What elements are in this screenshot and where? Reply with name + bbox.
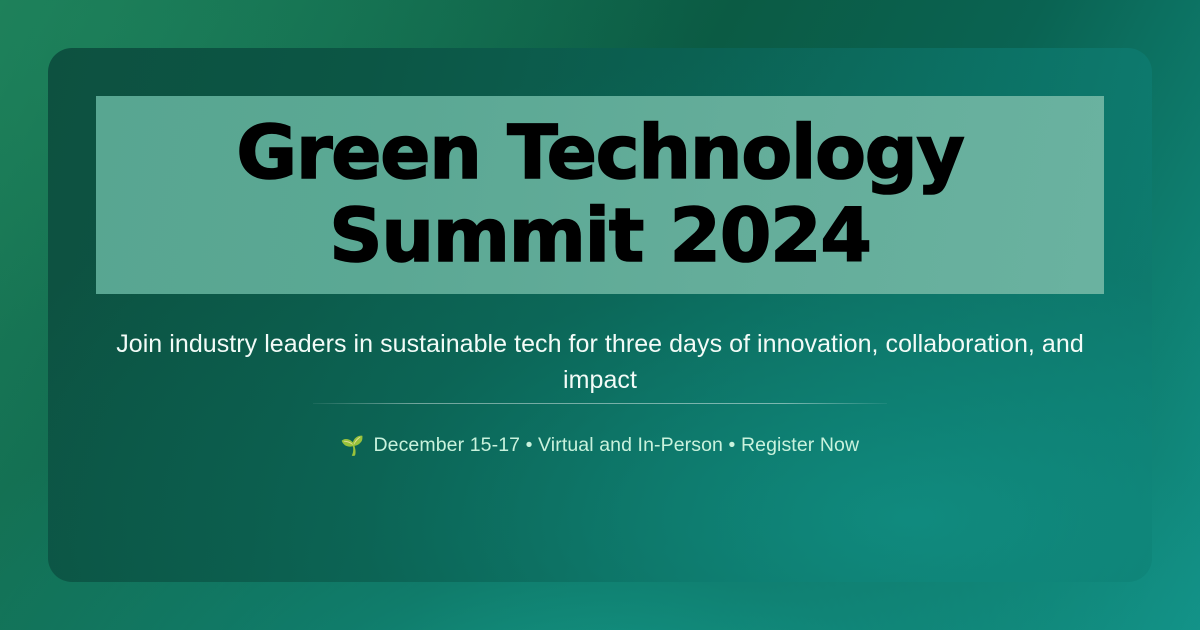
title-banner: Green TechnologySummit 2024 bbox=[96, 96, 1104, 294]
event-meta-text: December 15-17 • Virtual and In-Person •… bbox=[373, 434, 859, 457]
content-card: Green TechnologySummit 2024 Join industr… bbox=[48, 48, 1152, 582]
event-meta-row: 🌱 December 15-17 • Virtual and In-Person… bbox=[96, 434, 1104, 457]
section-divider bbox=[313, 403, 887, 404]
title-line-2: Summit 2024 bbox=[329, 193, 870, 279]
title-line-1: Green Technology bbox=[236, 110, 963, 196]
subtitle-text: Join industry leaders in sustainable tec… bbox=[96, 326, 1104, 399]
page-title: Green TechnologySummit 2024 bbox=[218, 112, 981, 278]
poster-canvas: Green TechnologySummit 2024 Join industr… bbox=[0, 0, 1200, 630]
seedling-icon: 🌱 bbox=[341, 437, 365, 456]
